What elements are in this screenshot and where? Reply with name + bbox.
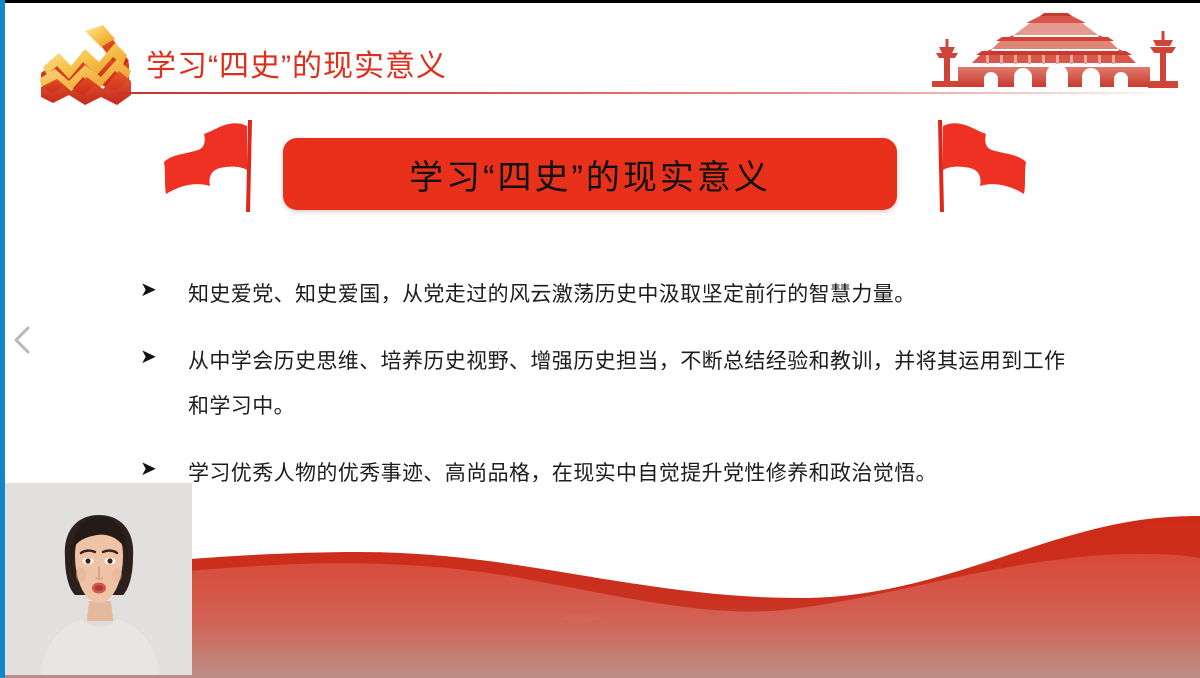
slide-header: 学习“四史”的现实意义 xyxy=(0,3,1200,103)
bullet-arrow-icon: ➤ xyxy=(140,272,188,307)
banner-row: 学习“四史”的现实意义 xyxy=(0,112,1200,217)
red-flag-icon xyxy=(158,116,262,216)
banner-title-box: 学习“四史”的现实意义 xyxy=(283,138,897,210)
tiananmen-gate-icon xyxy=(922,11,1192,96)
presenter-video-overlay[interactable] xyxy=(5,483,192,675)
player-left-rail xyxy=(0,0,5,678)
list-item: ➤ 从中学会历史思维、培养历史视野、增强历史担当，不断总结经验和教训，并将其运用… xyxy=(140,339,1080,429)
list-item: ➤ 知史爱党、知史爱国，从党走过的风云激荡历史中汲取坚定前行的智慧力量。 xyxy=(140,272,1080,317)
list-item-text: 知史爱党、知史爱国，从党走过的风云激荡历史中汲取坚定前行的智慧力量。 xyxy=(188,272,1080,317)
page-title: 学习“四史”的现实意义 xyxy=(146,41,447,85)
red-flag-icon xyxy=(928,116,1032,216)
chevron-left-icon[interactable] xyxy=(8,320,36,360)
bullet-arrow-icon: ➤ xyxy=(140,339,188,374)
list-item-text: 从中学会历史思维、培养历史视野、增强历史担当，不断总结经验和教训，并将其运用到工… xyxy=(188,339,1080,429)
slide-canvas: 学习“四史”的现实意义 xyxy=(0,0,1200,678)
banner-title-text: 学习“四史”的现实意义 xyxy=(409,150,771,199)
party-emblem-hammer-sickle-icon xyxy=(31,21,143,107)
